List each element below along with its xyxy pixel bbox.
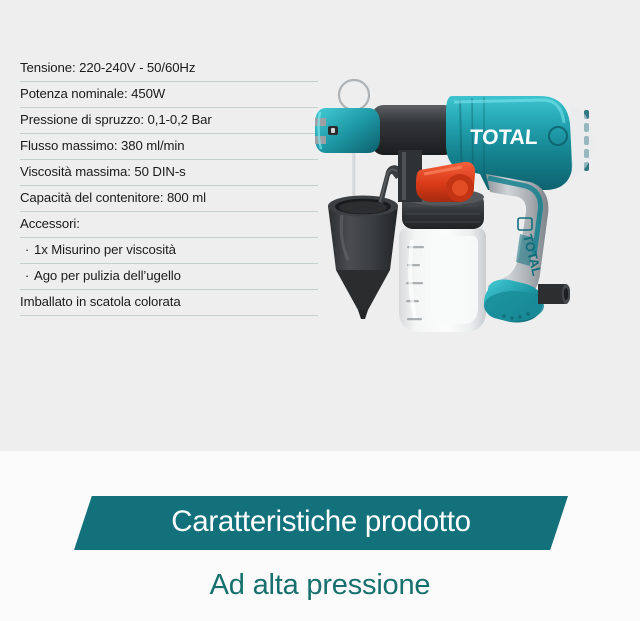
spec-row-label: Accessori:: [20, 216, 80, 231]
features-banner-label: Caratteristiche prodotto: [74, 496, 568, 550]
features-banner: Caratteristiche prodotto: [74, 496, 568, 550]
spray-gun-product-photo: TOTAL: [312, 78, 640, 346]
spec-table-bottom-divider: [20, 315, 318, 316]
spec-row-label: Viscosità massima: 50 DIN-s: [20, 164, 186, 179]
features-subtitle: Ad alta pressione: [0, 571, 640, 600]
spec-row-label: Pressione di spruzzo: 0,1-0,2 Bar: [20, 112, 212, 127]
spec-row-ago: · Ago per pulizia dell’ugello: [20, 263, 318, 289]
spec-row-accessori: Accessori:: [20, 211, 318, 237]
spec-row-label: Ago per pulizia dell’ugello: [34, 268, 181, 283]
spec-row-flusso: Flusso massimo: 380 ml/min: [20, 133, 318, 159]
spec-row-label: Imballato in scatola colorata: [20, 294, 181, 309]
spec-row-misurino: · 1x Misurino per viscosità: [20, 237, 318, 263]
bullet-icon: ·: [22, 267, 32, 285]
specifications-table: Tensione: 220-240V - 50/60Hz Potenza nom…: [20, 59, 318, 316]
specifications-section: Tensione: 220-240V - 50/60Hz Potenza nom…: [0, 0, 640, 451]
spec-row-tensione: Tensione: 220-240V - 50/60Hz: [20, 59, 318, 81]
spec-row-label: Potenza nominale: 450W: [20, 86, 165, 101]
spec-row-label: Flusso massimo: 380 ml/min: [20, 138, 185, 153]
spec-row-viscosita: Viscosità massima: 50 DIN-s: [20, 159, 318, 185]
spec-row-label: 1x Misurino per viscosità: [34, 242, 176, 257]
spec-row-capacita: Capacità del contenitore: 800 ml: [20, 185, 318, 211]
spec-row-label: Tensione: 220-240V - 50/60Hz: [20, 60, 195, 75]
bullet-icon: ·: [22, 241, 32, 259]
product-spec-page: Tensione: 220-240V - 50/60Hz Potenza nom…: [0, 0, 640, 621]
spec-row-imballato: Imballato in scatola colorata: [20, 289, 318, 315]
total-brand-mark: TOTAL: [469, 126, 539, 149]
spec-row-label: Capacità del contenitore: 800 ml: [20, 190, 206, 205]
paint-container-illustration: [399, 189, 486, 333]
viscosity-measuring-cup-illustration: [328, 165, 404, 319]
product-features-section: Caratteristiche prodotto Ad alta pressio…: [0, 451, 640, 621]
spec-row-pressione: Pressione di spruzzo: 0,1-0,2 Bar: [20, 107, 318, 133]
spec-row-potenza: Potenza nominale: 450W: [20, 81, 318, 107]
